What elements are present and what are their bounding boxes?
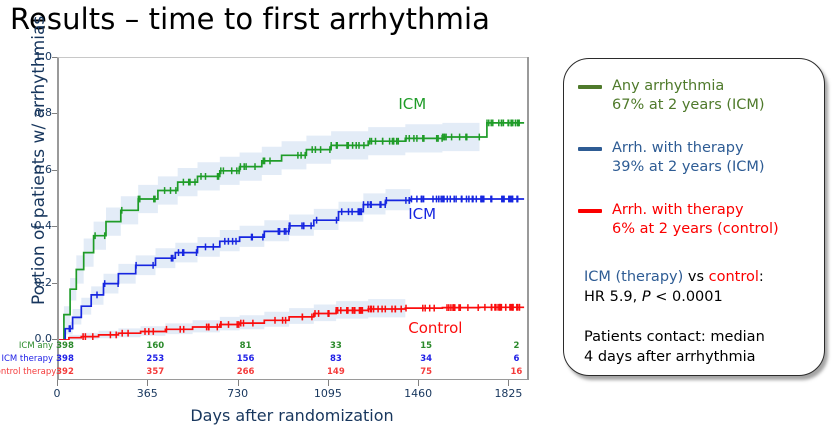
x-tick-label: 365 [122, 387, 172, 400]
y-tick-label: 0.4 [22, 219, 52, 232]
contact-line-2: 4 days after arrhythmia [584, 347, 756, 367]
risk-table-cell: 81 [231, 340, 261, 353]
y-tick-label: 0.8 [22, 106, 52, 119]
plot-inner [59, 58, 529, 340]
legend-entry-line-2: 67% at 2 years (ICM) [612, 96, 765, 115]
risk-table-row-label: control therapy [0, 366, 53, 379]
page-title: Results – time to first arrhythmia [10, 2, 490, 36]
stat-icm-label: ICM (therapy) [584, 269, 683, 285]
x-axis-label: Days after randomization [57, 406, 527, 425]
risk-table-cell: 34 [411, 353, 441, 366]
kaplan-meier-curves [59, 58, 529, 340]
p-value-text: < 0.0001 [651, 289, 723, 305]
plot-area [57, 57, 529, 340]
x-tick-mark [508, 380, 509, 386]
plot-annotation-control: Control [408, 319, 462, 337]
x-tick-mark [238, 380, 239, 386]
y-tick-label: 0.2 [22, 276, 52, 289]
x-tick-label: 730 [213, 387, 263, 400]
legend-entry-line-2: 39% at 2 years (ICM) [612, 158, 765, 177]
x-tick-label: 1825 [483, 387, 533, 400]
legend-entry-line-1: Any arrhythmia [612, 77, 765, 96]
numbers-at-risk-table: 3981608133152398253156833463923572661497… [57, 339, 527, 380]
risk-table-cell: 15 [411, 340, 441, 353]
risk-table-cell: 253 [140, 353, 170, 366]
legend-card: Any arrhythmia67% at 2 years (ICM)Arrh. … [563, 58, 825, 376]
risk-table-cell: 357 [140, 366, 170, 379]
x-tick-mark [328, 380, 329, 386]
risk-table-cell: 266 [231, 366, 261, 379]
risk-table-row: 3981608133152 [59, 340, 529, 353]
risk-table-row: 39825315683346 [59, 353, 529, 366]
y-tick-mark [52, 226, 57, 227]
x-tick-mark [418, 380, 419, 386]
survival-chart: Portion of patients w/ arrhythmias 0.00.… [0, 48, 552, 430]
stat-vs-label: vs [683, 269, 708, 285]
risk-table-row-label: ICM any [0, 340, 53, 353]
risk-table-cell: 398 [50, 353, 80, 366]
risk-table-cell: 160 [140, 340, 170, 353]
contact-line-1: Patients contact: median [584, 327, 765, 347]
y-tick-label: 1.0 [22, 50, 52, 63]
x-tick-label: 1460 [393, 387, 443, 400]
p-value-symbol: P [642, 289, 651, 305]
plot-annotation-icm: ICM [408, 205, 436, 223]
risk-table-row-label: ICM therapy [0, 353, 53, 366]
y-tick-mark [52, 113, 57, 114]
risk-table-cell: 83 [321, 353, 351, 366]
risk-table-cell: 75 [411, 366, 441, 379]
y-tick-mark [52, 283, 57, 284]
legend-entry-text: Any arrhythmia67% at 2 years (ICM) [612, 77, 765, 115]
x-tick-mark [57, 380, 58, 386]
legend-color-swatch [578, 147, 602, 151]
stat-line-2: HR 5.9, P < 0.0001 [584, 287, 723, 307]
risk-table-cell: 149 [321, 366, 351, 379]
legend-entry-line-1: Arrh. with therapy [612, 139, 765, 158]
legend-entry-text: Arrh. with therapy6% at 2 years (control… [612, 201, 779, 239]
risk-table-row: 3923572661497516 [59, 366, 529, 379]
x-tick-mark [147, 380, 148, 386]
x-tick-label: 0 [32, 387, 82, 400]
risk-table-cell: 33 [321, 340, 351, 353]
y-tick-mark [52, 57, 57, 58]
risk-table-cell: 398 [50, 340, 80, 353]
legend-entry-text: Arrh. with therapy39% at 2 years (ICM) [612, 139, 765, 177]
x-tick-label: 1095 [303, 387, 353, 400]
y-axis-ticks: 0.00.20.40.60.81.0 [18, 48, 52, 348]
risk-table-cell: 156 [231, 353, 261, 366]
legend-color-swatch [578, 209, 602, 213]
legend-color-swatch [578, 85, 602, 89]
risk-table-right-border [527, 339, 529, 380]
stat-control-label: control [709, 269, 759, 285]
stat-line-1: ICM (therapy) vs control: [584, 267, 764, 287]
legend-entry-line-1: Arrh. with therapy [612, 201, 779, 220]
plot-annotation-icm: ICM [398, 95, 426, 113]
x-axis-ticks: 0365730109514601825 [57, 380, 527, 388]
y-tick-mark [52, 170, 57, 171]
y-tick-label: 0.6 [22, 163, 52, 176]
hazard-ratio-text: HR 5.9, [584, 289, 642, 305]
plot-right-border [527, 57, 529, 339]
stat-colon: : [759, 269, 764, 285]
legend-entry-line-2: 6% at 2 years (control) [612, 220, 779, 239]
